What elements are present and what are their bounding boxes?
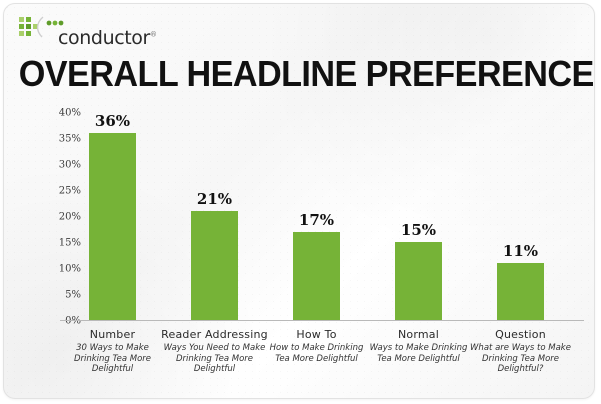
x-category-question: Question What are Ways to Make Drinking …: [467, 328, 575, 375]
bar-reader-addressing[interactable]: [191, 211, 238, 320]
bar-normal[interactable]: [395, 242, 442, 320]
x-category-how-to: How To How to Make Drinking Tea More Del…: [263, 328, 371, 364]
bar-value-label: 11%: [476, 242, 566, 260]
x-category-normal: Normal Ways to Make Drinking Tea More De…: [365, 328, 473, 364]
bar-value-label: 21%: [170, 190, 260, 208]
y-tick-label: 30%: [35, 160, 81, 171]
x-category-reader-addressing: Reader Addressing Ways You Need to Make …: [161, 328, 269, 375]
y-tick-label: 25%: [35, 186, 81, 197]
bar-value-label: 36%: [68, 112, 158, 130]
x-category-example: 30 Ways to Make Drinking Tea More Deligh…: [59, 343, 167, 375]
y-tick-label: 5%: [35, 290, 81, 301]
bar-chart: 40% 35% 30% 25% 20% 15% 10% 5% 0% 36% 21…: [4, 4, 595, 399]
x-axis-line: [60, 320, 584, 321]
bar-how-to[interactable]: [293, 232, 340, 320]
bar-value-label: 17%: [272, 211, 362, 229]
y-tick-label: 15%: [35, 238, 81, 249]
bar-number[interactable]: [89, 133, 136, 320]
y-tick-label: 20%: [35, 212, 81, 223]
y-tick-label: 35%: [35, 134, 81, 145]
x-category-example: How to Make Drinking Tea More Delightful: [263, 343, 371, 364]
x-category-name: Number: [59, 328, 167, 341]
x-category-name: Reader Addressing: [161, 328, 269, 341]
x-category-example: Ways You Need to Make Drinking Tea More …: [161, 343, 269, 375]
bar-value-label: 15%: [374, 221, 464, 239]
y-tick-label: 10%: [35, 264, 81, 275]
x-category-name: Question: [467, 328, 575, 341]
y-tick-label: 0%: [35, 316, 81, 327]
x-category-name: Normal: [365, 328, 473, 341]
x-category-example: What are Ways to Make Drinking Tea More …: [467, 343, 575, 375]
x-category-number: Number 30 Ways to Make Drinking Tea More…: [59, 328, 167, 375]
bar-question[interactable]: [497, 263, 544, 320]
x-category-name: How To: [263, 328, 371, 341]
x-category-example: Ways to Make Drinking Tea More Delightfu…: [365, 343, 473, 364]
chart-card: conductor® OVERALL HEADLINE PREFERENCES …: [3, 3, 595, 399]
